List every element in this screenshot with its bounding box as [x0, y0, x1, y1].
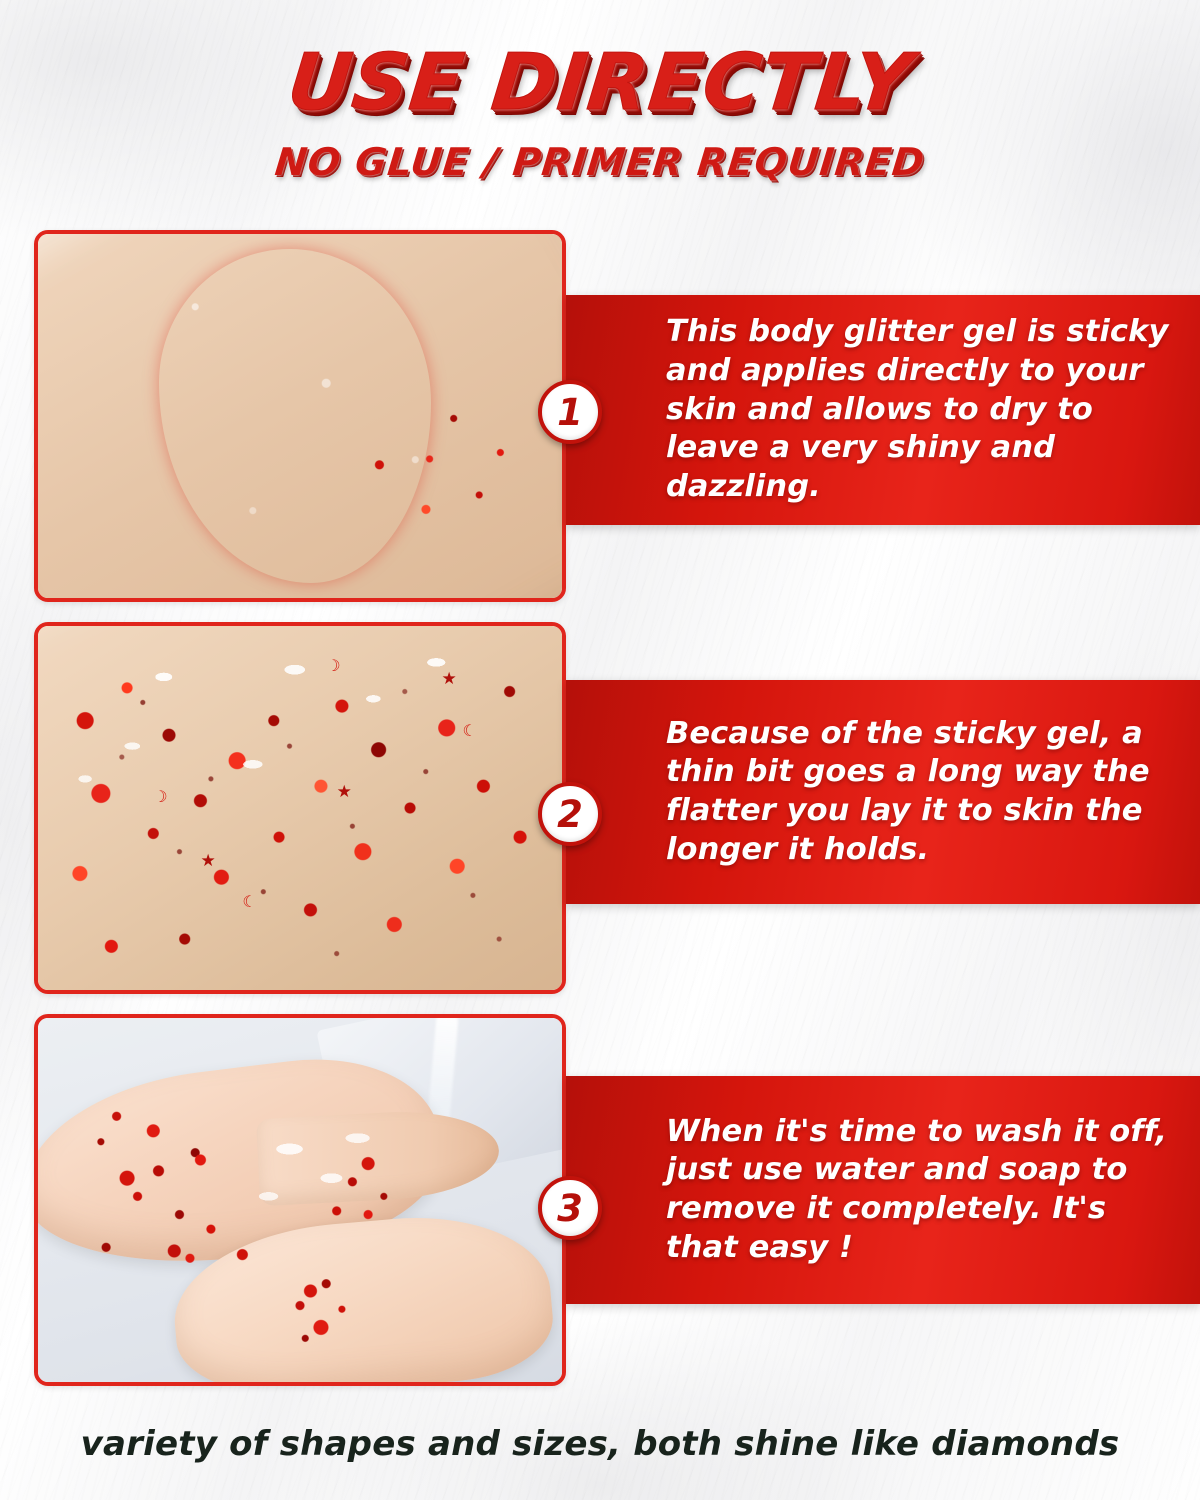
step-row-1: This body glitter gel is sticky and appl…: [0, 230, 1200, 602]
step-1-number-badge: 1: [538, 380, 602, 444]
header: USE DIRECTLY NO GLUE / PRIMER REQUIRED: [0, 0, 1200, 184]
star-glitter-icon: ★: [337, 783, 352, 800]
step-2-number-badge: 2: [538, 782, 602, 846]
step-1-text: This body glitter gel is sticky and appl…: [566, 313, 1200, 507]
star-glitter-icon: ★: [200, 852, 215, 869]
water-highlights: [38, 1018, 562, 1382]
step-1-photo-panel: [34, 230, 566, 602]
page-title: USE DIRECTLY: [0, 44, 1200, 124]
step-3-number-badge: 3: [538, 1176, 602, 1240]
white-glitter-flakes: [38, 626, 562, 990]
step-row-3: When it's time to wash it off, just use …: [0, 1014, 1200, 1386]
page-subtitle: NO GLUE / PRIMER REQUIRED: [0, 140, 1200, 184]
step-2-text: Because of the sticky gel, a thin bit go…: [566, 715, 1200, 870]
moon-glitter-icon: ☽: [153, 790, 167, 806]
thin-layer-photo: ★ ★ ★ ☽ ☾ ☽ ☾: [38, 626, 562, 990]
step-row-2: ★ ★ ★ ☽ ☾ ☽ ☾ Because of the sticky gel,…: [0, 622, 1200, 994]
moon-glitter-icon: ☾: [462, 724, 476, 740]
step-3-photo-panel: [34, 1014, 566, 1386]
step-3-text-banner: When it's time to wash it off, just use …: [566, 1076, 1200, 1304]
step-2-photo-panel: ★ ★ ★ ☽ ☾ ☽ ☾: [34, 622, 566, 994]
moon-glitter-icon: ☾: [242, 895, 256, 911]
handwash-photo: [38, 1018, 562, 1382]
star-glitter-icon: ★: [441, 670, 456, 687]
step-2-text-banner: Because of the sticky gel, a thin bit go…: [566, 680, 1200, 904]
step-3-text: When it's time to wash it off, just use …: [566, 1113, 1200, 1268]
footer-caption: variety of shapes and sizes, both shine …: [0, 1424, 1200, 1464]
glitter-gel-photo: [38, 234, 562, 598]
step-1-text-banner: This body glitter gel is sticky and appl…: [566, 295, 1200, 525]
moon-glitter-icon: ☽: [326, 659, 340, 675]
